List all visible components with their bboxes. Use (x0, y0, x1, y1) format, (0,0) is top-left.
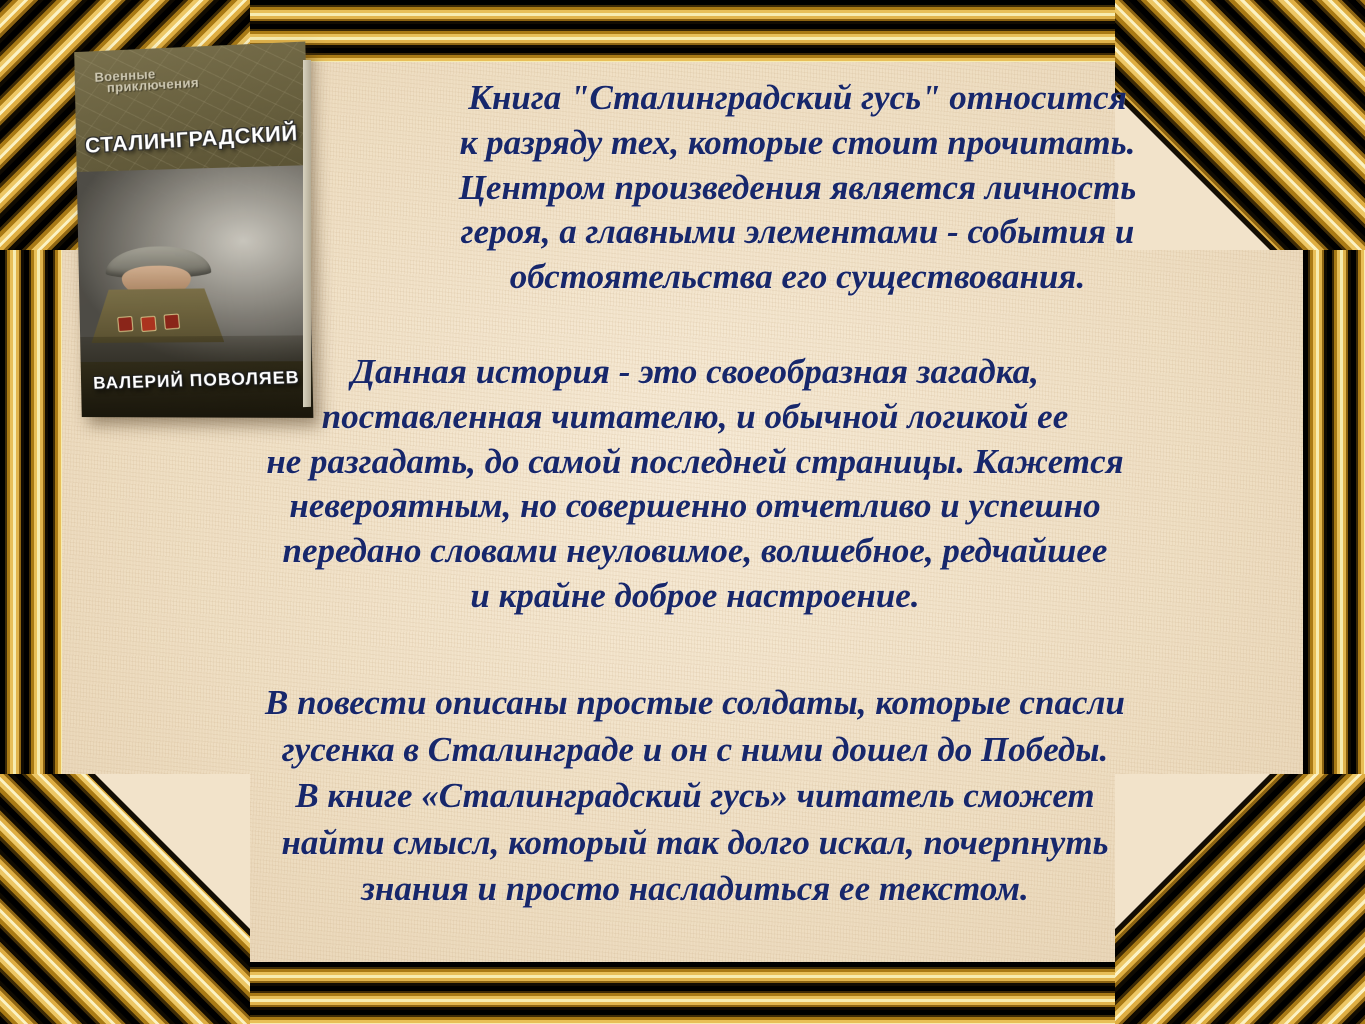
text-line: Центром произведения является личность (325, 166, 1270, 211)
book-cover-image: Военные приключения СТАЛИНГРАДСКИЙ ГУСЬ … (78, 52, 304, 417)
medal-icon (163, 313, 180, 329)
text-line: передано словами неуловимое, волшебное, … (105, 529, 1285, 574)
text-line: и крайне доброе настроение. (105, 574, 1285, 619)
text-line: В повести описаны простые солдаты, котор… (105, 680, 1285, 727)
slide-canvas: Военные приключения СТАЛИНГРАДСКИЙ ГУСЬ … (0, 0, 1365, 1024)
text-line: знания и просто насладиться ее текстом. (105, 866, 1285, 913)
text-line: найти смысл, который так долго искал, по… (105, 820, 1285, 867)
paragraph-three: В повести описаны простые солдаты, котор… (105, 680, 1285, 913)
text-line: обстоятельства его существования. (325, 255, 1270, 300)
medal-icon (118, 316, 134, 332)
paragraph-one: Книга "Сталинградский гусь" относится к … (325, 76, 1270, 300)
book-cover-front: Военные приключения СТАЛИНГРАДСКИЙ ГУСЬ … (74, 42, 313, 418)
text-line: Книга "Сталинградский гусь" относится (325, 76, 1270, 121)
text-line: В книге «Сталинградский гусь» читатель с… (105, 773, 1285, 820)
book-photo-area (77, 166, 312, 363)
text-line: к разряду тех, которые стоит прочитать. (325, 121, 1270, 166)
text-line: невероятным, но совершенно отчетливо и у… (105, 484, 1285, 529)
medal-icon (140, 315, 156, 331)
text-line: не разгадать, до самой последней страниц… (105, 440, 1285, 485)
text-line: героя, а главными элементами - события и (325, 210, 1270, 255)
book-page-edge (303, 60, 311, 407)
text-line: гусенка в Сталинграде и он с ними дошел … (105, 727, 1285, 774)
